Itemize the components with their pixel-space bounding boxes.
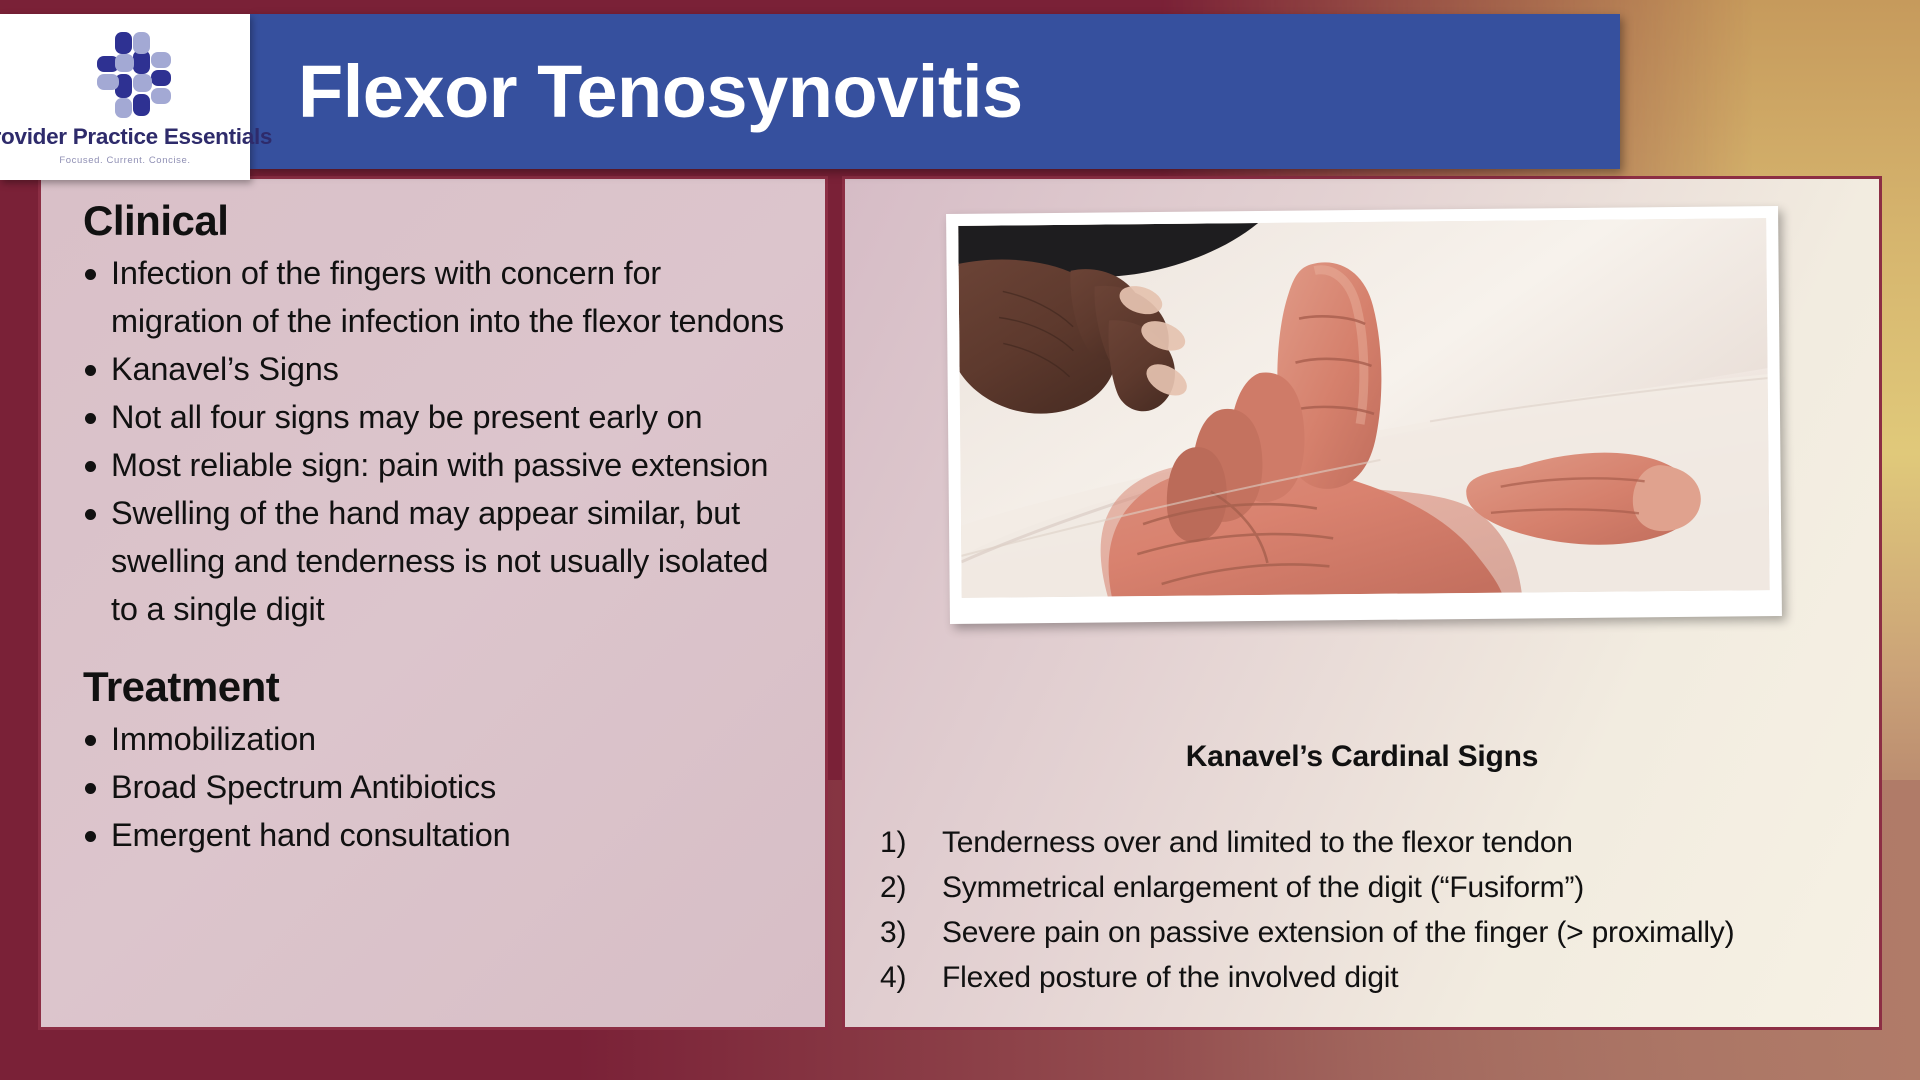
brand-tagline: Focused. Current. Concise. — [59, 155, 190, 166]
kanavel-sign-row: 1)Tenderness over and limited to the fle… — [880, 820, 1880, 865]
clinical-bullet-item: Most reliable sign: pain with passive ex… — [71, 441, 799, 489]
treatment-bullet-list: ImmobilizationBroad Spectrum Antibiotics… — [71, 715, 799, 859]
page-title: Flexor Tenosynovitis — [250, 55, 1023, 129]
kanavel-sign-text: Severe pain on passive extension of the … — [942, 910, 1734, 955]
brand-wordmark: Provider Practice Essentials — [0, 124, 272, 150]
treatment-bullet-item: Immobilization — [71, 715, 799, 763]
clinical-bullet-list: Infection of the fingers with concern fo… — [71, 249, 799, 633]
kanavel-sign-text: Symmetrical enlargement of the digit (“F… — [942, 865, 1584, 910]
left-content-panel: Clinical Infection of the fingers with c… — [38, 176, 828, 1030]
kanavel-sign-text: Flexed posture of the involved digit — [942, 955, 1398, 1000]
kanavel-sign-number: 1) — [880, 820, 942, 865]
clinical-photo-frame — [946, 206, 1782, 624]
kanavel-sign-row: 2)Symmetrical enlargement of the digit (… — [880, 865, 1880, 910]
photo-caption: Kanavel’s Cardinal Signs — [842, 740, 1882, 774]
treatment-heading: Treatment — [83, 663, 799, 711]
clinical-heading: Clinical — [83, 197, 799, 245]
kanavel-signs-list: 1)Tenderness over and limited to the fle… — [880, 820, 1880, 1000]
clinical-bullet-item: Kanavel’s Signs — [71, 345, 799, 393]
kanavel-sign-row: 4)Flexed posture of the involved digit — [880, 955, 1880, 1000]
treatment-bullet-item: Broad Spectrum Antibiotics — [71, 763, 799, 811]
kanavel-sign-number: 3) — [880, 910, 942, 955]
kanavel-sign-number: 4) — [880, 955, 942, 1000]
clinical-bullet-item: Swelling of the hand may appear similar,… — [71, 489, 799, 633]
title-banner: Flexor Tenosynovitis — [250, 14, 1620, 169]
clinical-photo-swollen-finger — [958, 218, 1770, 598]
kanavel-sign-text: Tenderness over and limited to the flexo… — [942, 820, 1573, 865]
treatment-bullet-item: Emergent hand consultation — [71, 811, 799, 859]
kanavel-sign-row: 3)Severe pain on passive extension of th… — [880, 910, 1880, 955]
medical-cross-icon — [75, 28, 175, 122]
brand-logo-box: Provider Practice Essentials Focused. Cu… — [0, 14, 250, 180]
kanavel-sign-number: 2) — [880, 865, 942, 910]
clinical-bullet-item: Not all four signs may be present early … — [71, 393, 799, 441]
clinical-bullet-item: Infection of the fingers with concern fo… — [71, 249, 799, 345]
